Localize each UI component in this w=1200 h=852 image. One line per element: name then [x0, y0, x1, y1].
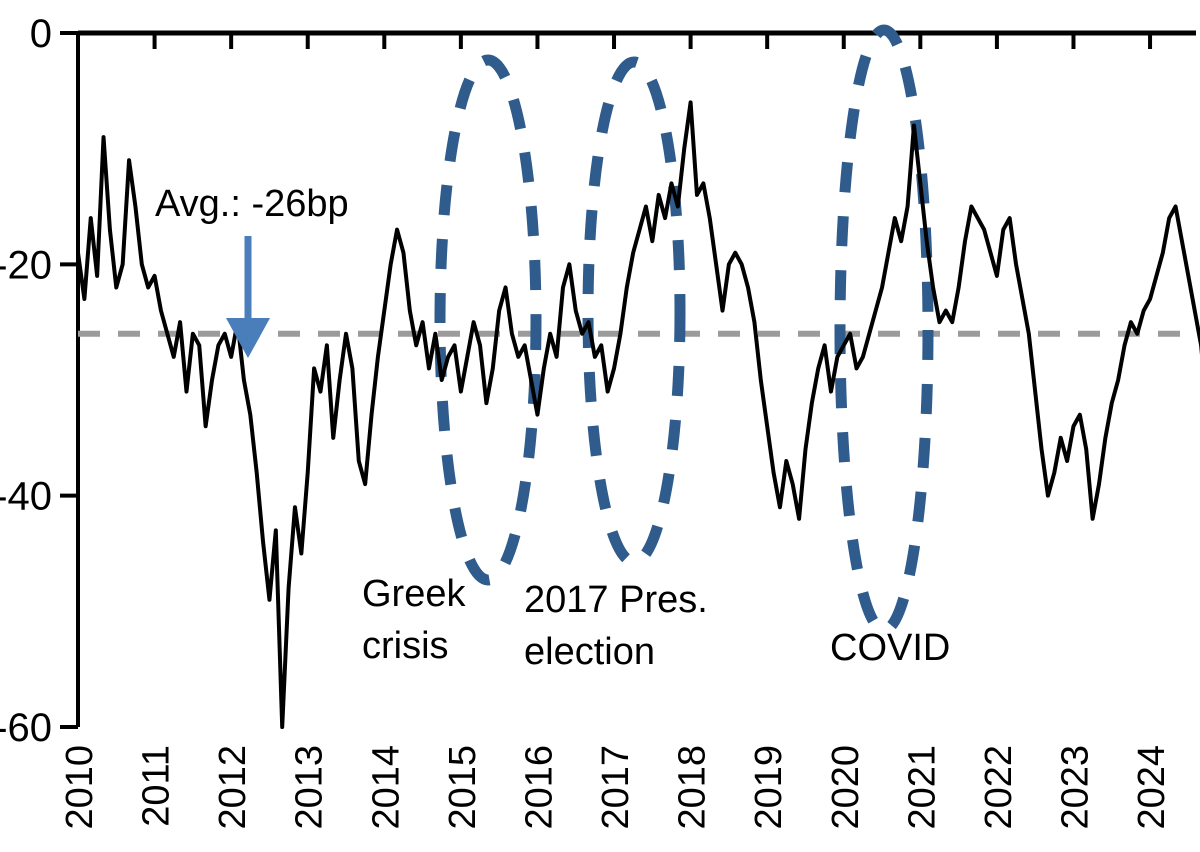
y-tick-label--20: -20	[0, 243, 52, 287]
x-tick-label-2016: 2016	[518, 745, 560, 830]
x-tick-label-2014: 2014	[365, 745, 407, 830]
x-tick-label-2017: 2017	[595, 745, 637, 830]
x-tick-label-2023: 2023	[1054, 745, 1096, 830]
average-annotation-label: Avg.: -26bp	[155, 183, 349, 225]
x-tick-label-2024: 2024	[1131, 745, 1173, 830]
annotation-pres-election-2017-line2: election	[524, 631, 655, 673]
x-tick-label-2022: 2022	[978, 745, 1020, 830]
x-tick-label-2020: 2020	[825, 745, 867, 830]
y-tick-label-0: 0	[30, 12, 52, 56]
x-tick-label-2013: 2013	[289, 745, 331, 830]
x-tick-labels: 2010201120122013201420152016201720182019…	[59, 745, 1173, 830]
annotation-covid-label: COVID	[830, 627, 950, 669]
chart-container: 0-20-40-60 20102011201220132014201520162…	[0, 0, 1200, 852]
x-tick-label-2011: 2011	[136, 745, 178, 827]
line-chart: 0-20-40-60 20102011201220132014201520162…	[0, 0, 1200, 852]
x-tick-label-2010: 2010	[59, 745, 101, 830]
x-tick-label-2021: 2021	[901, 745, 943, 830]
x-tick-label-2015: 2015	[442, 745, 484, 830]
x-tick-label-2012: 2012	[212, 745, 254, 830]
y-tick-label--40: -40	[0, 475, 52, 519]
annotation-greek-crisis-line2: crisis	[362, 625, 449, 667]
x-tick-label-2019: 2019	[748, 745, 790, 830]
annotation-pres-election-2017-line1: 2017 Pres.	[524, 579, 708, 621]
x-tick-label-2018: 2018	[672, 745, 714, 830]
annotation-greek-crisis-line1: Greek	[362, 573, 466, 615]
y-tick-label--60: -60	[0, 706, 52, 750]
